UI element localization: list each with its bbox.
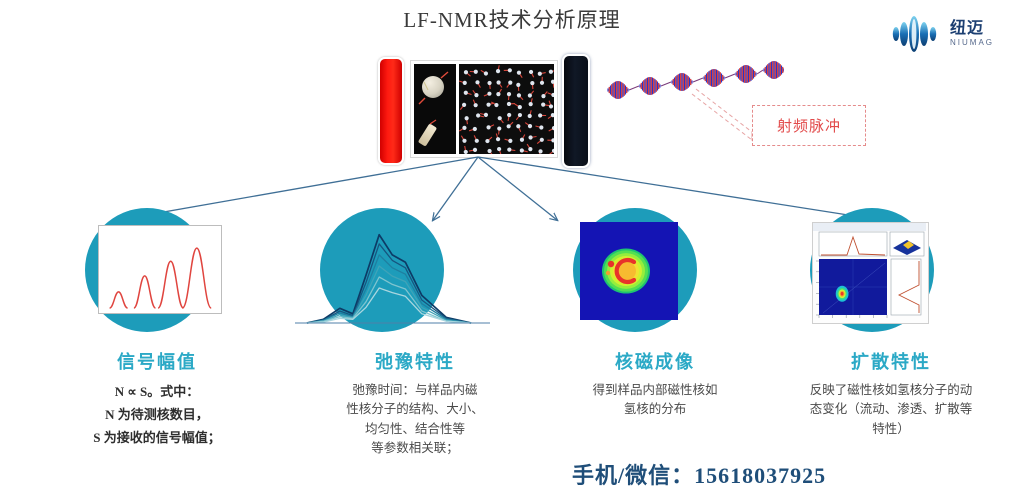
caption-line: 性核分子的结构、大小、 — [300, 400, 530, 419]
page-title: LF-NMR技术分析原理 — [0, 4, 1024, 34]
caption-line: 态变化（流动、渗透、扩散等 — [762, 400, 1020, 419]
logo-name-cn: 纽迈 — [950, 21, 994, 37]
caption-line: N ∝ S。式中： — [52, 381, 262, 404]
caption-signal-amplitude: 信号幅值 N ∝ S。式中： N 为待测核数目， S 为接收的信号幅值； — [52, 348, 262, 449]
caption-heading: 核磁成像 — [540, 348, 770, 374]
sample-chamber — [410, 60, 558, 158]
caption-mri-imaging: 核磁成像 得到样品内部磁性核如 氢核的分布 — [540, 348, 770, 420]
red-magnet-pole-icon — [378, 57, 404, 165]
amplitude-peaks-chart — [98, 225, 222, 314]
caption-line: 反映了磁性核如氢核分子的动 — [762, 381, 1020, 400]
logo-name-en: NIUMAG — [950, 39, 994, 47]
caption-line: 弛豫时间：与样品内磁 — [300, 381, 530, 400]
caption-heading: 信号幅值 — [52, 348, 262, 374]
caption-heading: 弛豫特性 — [300, 348, 530, 374]
contact-info: 手机/微信：15618037925 — [572, 458, 972, 490]
caption-relaxation: 弛豫特性 弛豫时间：与样品内磁 性核分子的结构、大小、 均匀性、结合性等 等参数… — [300, 348, 530, 459]
caption-heading: 扩散特性 — [762, 348, 1020, 374]
caption-line: 等参数相关联； — [300, 439, 530, 458]
relaxation-curves-chart — [295, 205, 490, 340]
caption-diffusion: 扩散特性 反映了磁性核如氢核分子的动 态变化（流动、渗透、扩散等 特性） — [762, 348, 1020, 439]
brand-logo: 纽迈 NIUMAG — [888, 12, 1008, 56]
diffusion-contour-plot — [812, 222, 929, 324]
caption-line: N 为待测核数目， — [52, 404, 262, 427]
mri-heatmap-image — [580, 222, 678, 320]
caption-line: 氢核的分布 — [540, 400, 770, 419]
sample-specimen-panel-icon — [414, 64, 456, 154]
slide-canvas: LF-NMR技术分析原理 纽迈 NIU — [0, 0, 1024, 498]
caption-line: S 为接收的信号幅值； — [52, 427, 262, 450]
caption-line: 特性） — [762, 420, 1020, 439]
rf-pulse-callout-label: 射频脉冲 — [752, 105, 866, 146]
logo-wordmark: 纽迈 NIUMAG — [950, 21, 994, 47]
nuclear-spin-field-panel-icon — [459, 64, 554, 154]
nmr-waveform-icon — [888, 14, 944, 54]
caption-line: 得到样品内部磁性核如 — [540, 381, 770, 400]
caption-line: 均匀性、结合性等 — [300, 420, 530, 439]
